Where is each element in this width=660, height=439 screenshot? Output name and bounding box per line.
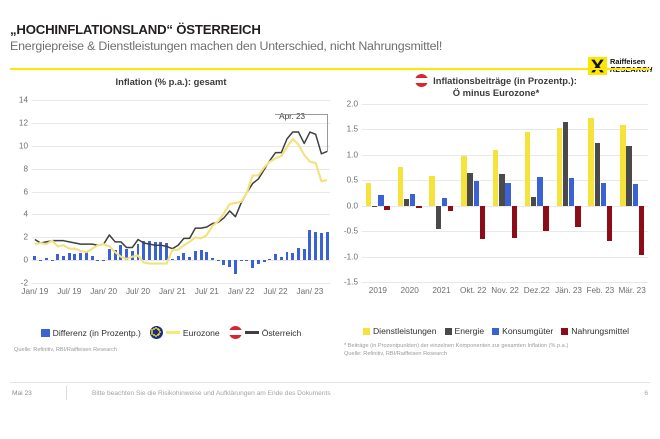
right-chart-title-line2: Ö minus Eurozone* <box>336 87 656 99</box>
bar-dienstleistungen <box>557 128 562 205</box>
x-axis-category-label: 2020 <box>401 286 419 295</box>
y-axis-tick-label: 1.0 <box>336 150 358 159</box>
x-axis-tick-label: Jul/ 19 <box>57 287 81 296</box>
legend-item-nahrungsmittel: Nahrungsmittel <box>561 326 629 336</box>
gridline <box>362 206 648 207</box>
bar-nahrungsmittel <box>416 206 421 208</box>
gridline <box>362 180 648 181</box>
color-swatch <box>363 328 370 335</box>
color-swatch <box>445 328 452 335</box>
legend-item-oesterreich: Österreich <box>229 326 302 339</box>
bar-konsumgüter <box>378 195 383 206</box>
page-title: „HOCHINFLATIONSLAND“ ÖSTERREICH <box>10 22 261 37</box>
y-axis-tick-label: 2.0 <box>336 100 358 109</box>
bar-dienstleistungen <box>429 176 434 205</box>
footer-date: Mai 23 <box>12 390 32 397</box>
legend-item-energie: Energie <box>445 326 485 336</box>
y-axis-tick-label: -1.5 <box>336 278 358 287</box>
bar-nahrungsmittel <box>480 206 485 240</box>
right-chart-title: Inflationsbeiträge (in Prozentp.): Ö min… <box>336 74 656 99</box>
footer-page-number: 6 <box>644 390 648 397</box>
footer-vertical-divider <box>66 386 67 400</box>
legend-label: Konsumgüter <box>502 326 553 336</box>
left-chart-source: Quelle: Refinitiv, RBI/Raiffeisen Resear… <box>14 346 117 354</box>
chart-panel-inflation-total: Inflation (% p.a.): gesamt 14121086420-2… <box>6 74 336 349</box>
color-swatch <box>561 328 568 335</box>
y-axis-tick-label: 1.5 <box>336 125 358 134</box>
legend-item-eurozone: Eurozone <box>150 326 220 339</box>
y-axis-tick-label: -1.0 <box>336 252 358 261</box>
bar-energie <box>404 199 409 206</box>
bar-nahrungsmittel <box>543 206 548 231</box>
bar-konsumgüter <box>569 178 574 206</box>
x-axis-tick-label: Jul/ 22 <box>263 287 287 296</box>
legend-label: Differenz (in Prozentp.) <box>53 328 141 338</box>
x-axis-category-label: Nov. 22 <box>491 286 519 295</box>
slide: „HOCHINFLATIONSLAND“ ÖSTERREICH Energiep… <box>0 0 660 439</box>
gridline <box>362 231 648 232</box>
y-axis-tick-label: 0.5 <box>336 176 358 185</box>
slide-header: „HOCHINFLATIONSLAND“ ÖSTERREICH Energiep… <box>0 22 660 68</box>
footer-divider <box>10 382 650 383</box>
eurozone-line-swatch <box>166 331 180 334</box>
left-chart-title: Inflation (% p.a.): gesamt <box>6 74 336 88</box>
gridline <box>362 104 648 105</box>
line-eurozone <box>35 139 327 264</box>
gridline <box>362 257 648 258</box>
austria-flag-icon <box>229 326 242 339</box>
y-axis-tick-label: 0.0 <box>336 201 358 210</box>
bar-nahrungsmittel <box>639 206 644 255</box>
gridline <box>362 282 648 283</box>
legend-label: Dienstleistungen <box>373 326 437 336</box>
legend-label: Energie <box>455 326 485 336</box>
x-axis-tick-label: Jan/ 19 <box>21 287 48 296</box>
legend-item-dienstleistungen: Dienstleistungen <box>363 326 437 336</box>
page-subtitle: Energiepreise & Dienstleistungen machen … <box>10 39 442 53</box>
slide-footer: Mai 23 Bitte beachten Sie die Risikohinw… <box>0 382 660 408</box>
right-chart-source: Quelle: Refinitiv, RBI/Raiffeisen Resear… <box>344 350 447 358</box>
bar-nahrungsmittel <box>448 206 453 212</box>
right-plot-area: 2.01.51.00.50.0-0.5-1.0-1.5201920202021O… <box>336 100 656 300</box>
x-axis-tick-label: Jan/ 22 <box>228 287 255 296</box>
bar-nahrungsmittel <box>575 206 580 227</box>
x-axis-category-label: Mär. 23 <box>618 286 645 295</box>
bar-energie <box>531 197 536 206</box>
bar-konsumgüter <box>601 183 606 205</box>
color-swatch <box>492 328 499 335</box>
annotation-bracket <box>275 114 328 153</box>
x-axis-tick-label: Jul/ 20 <box>126 287 150 296</box>
right-chart-title-line1: Inflationsbeiträge (in Prozentp.): <box>433 75 577 87</box>
blue-square-swatch <box>41 329 50 337</box>
raiffeisen-research-logo: Raiffeisen RESEARCH <box>588 56 654 76</box>
bar-energie <box>626 146 631 206</box>
x-axis-category-label: Dez.22 <box>524 286 550 295</box>
gridline <box>362 155 648 156</box>
left-chart-legend: Differenz (in Prozentp.)EurozoneÖsterrei… <box>6 326 336 339</box>
bar-dienstleistungen <box>493 150 498 206</box>
bar-nahrungsmittel <box>384 206 389 211</box>
x-axis-tick-label: Jan/ 20 <box>90 287 117 296</box>
right-chart-legend: DienstleistungenEnergieKonsumgüterNahrun… <box>336 326 656 336</box>
x-axis-tick-label: Jan/ 21 <box>159 287 186 296</box>
bar-dienstleistungen <box>461 156 466 206</box>
bar-konsumgüter <box>633 184 638 206</box>
bar-dienstleistungen <box>588 118 593 206</box>
legend-item-konsumgüter: Konsumgüter <box>492 326 553 336</box>
gridline <box>362 129 648 130</box>
legend-item-differenz: Differenz (in Prozentp.) <box>41 328 141 338</box>
x-axis-category-label: Jän. 23 <box>555 286 582 295</box>
oesterreich-line-swatch <box>245 331 259 334</box>
x-axis-category-label: Feb. 23 <box>586 286 614 295</box>
bar-nahrungsmittel <box>512 206 517 239</box>
x-axis-tick-label: Jul/ 21 <box>195 287 219 296</box>
x-axis-category-label: Okt. 22 <box>460 286 486 295</box>
bar-konsumgüter <box>474 181 479 206</box>
legend-label: Eurozone <box>183 328 220 338</box>
bar-energie <box>467 173 472 206</box>
bar-energie <box>499 174 504 206</box>
right-chart-source-note: * Beiträge (in Prozentpunkten) der einze… <box>344 342 649 350</box>
x-axis-tick-label: Jan/ 23 <box>297 287 324 296</box>
eu-flag-icon <box>150 326 163 339</box>
bar-konsumgüter <box>505 183 510 205</box>
bar-energie <box>595 143 600 206</box>
header-divider-rule <box>10 68 650 70</box>
bar-energie <box>436 206 441 229</box>
bar-energie <box>372 206 377 207</box>
bar-nahrungsmittel <box>607 206 612 241</box>
x-axis-category-label: 2019 <box>369 286 387 295</box>
left-plot-area: 14121086420-2Jan/ 19Jul/ 19Jan/ 20Jul/ 2… <box>6 96 336 301</box>
x-axis-category-label: 2021 <box>432 286 450 295</box>
legend-label: Österreich <box>262 328 302 338</box>
austria-flag-icon <box>415 74 428 87</box>
bar-konsumgüter <box>442 198 447 206</box>
bar-dienstleistungen <box>366 183 371 206</box>
bar-konsumgüter <box>537 177 542 205</box>
footer-disclaimer: Bitte beachten Sie die Risikohinweise un… <box>92 390 331 397</box>
legend-label: Nahrungsmittel <box>571 326 629 336</box>
bar-dienstleistungen <box>525 132 530 206</box>
y-axis-tick-label: -0.5 <box>336 227 358 236</box>
bar-konsumgüter <box>410 194 415 206</box>
chart-panel-inflation-contributions: Inflationsbeiträge (in Prozentp.): Ö min… <box>336 74 656 349</box>
raiffeisen-gable-cross-icon <box>588 57 607 75</box>
bar-dienstleistungen <box>620 125 625 206</box>
bar-dienstleistungen <box>398 167 403 206</box>
bar-energie <box>563 122 568 205</box>
